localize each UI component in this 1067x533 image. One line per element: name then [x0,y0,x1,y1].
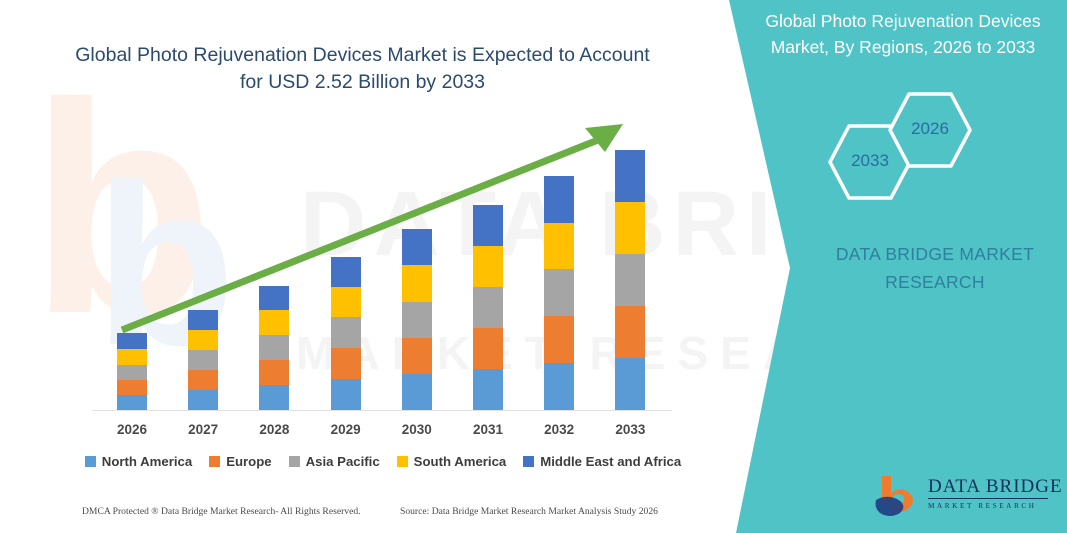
bar-segment[interactable] [473,246,503,287]
bar-segment[interactable] [402,265,432,302]
legend-item[interactable]: North America [85,454,192,469]
panel-title: Global Photo Rejuvenation Devices Market… [748,8,1058,60]
bar-segment[interactable] [402,374,432,410]
bar-segment[interactable] [259,310,289,335]
x-axis-label-2030: 2030 [387,422,447,437]
x-axis-label-2026: 2026 [102,422,162,437]
legend-item[interactable]: South America [397,454,507,469]
bar-segment[interactable] [544,176,574,223]
hexagon-group: 2033 2026 [828,92,978,204]
bar-2032[interactable] [544,176,574,410]
bar-segment[interactable] [402,229,432,265]
bar-segment[interactable] [331,257,361,287]
bar-2031[interactable] [473,205,503,410]
bar-segment[interactable] [259,385,289,410]
x-axis-label-2031: 2031 [458,422,518,437]
x-axis-label-2033: 2033 [600,422,660,437]
legend-label: South America [414,454,507,469]
infographic-root: b b DATA BRIDGE MARKET RESEARCH Global P… [0,0,1067,533]
bar-segment[interactable] [117,365,147,380]
bar-segment[interactable] [615,358,645,410]
bar-segment[interactable] [117,349,147,365]
bar-segment[interactable] [331,317,361,348]
bar-segment[interactable] [117,380,147,395]
bar-segment[interactable] [615,150,645,202]
bar-segment[interactable] [259,286,289,310]
bar-segment[interactable] [402,338,432,374]
copyright-text: DMCA Protected ® Data Bridge Market Rese… [82,506,361,517]
legend-swatch-icon [523,456,534,467]
legend-label: North America [102,454,192,469]
legend-swatch-icon [397,456,408,467]
bar-segment[interactable] [544,316,574,363]
bar-segment[interactable] [473,287,503,328]
bar-segment[interactable] [117,395,147,410]
stacked-bar-chart: 20262027202820292030203120322033 North A… [0,0,710,533]
bar-segment[interactable] [188,310,218,330]
source-text: Source: Data Bridge Market Research Mark… [400,506,658,517]
bar-segment[interactable] [188,350,218,370]
bar-2028[interactable] [259,286,289,410]
legend-item[interactable]: Middle East and Africa [523,454,681,469]
x-axis-label-2032: 2032 [529,422,589,437]
bar-segment[interactable] [544,363,574,410]
x-axis-label-2029: 2029 [316,422,376,437]
bar-segment[interactable] [473,328,503,369]
legend-item[interactable]: Asia Pacific [289,454,380,469]
x-axis-labels: 20262027202820292030203120322033 [92,422,672,444]
logo-mark-icon [872,474,924,518]
bar-segment[interactable] [473,369,503,410]
hexagon-2026-label: 2026 [888,119,972,139]
bar-segment[interactable] [544,223,574,269]
bar-segment[interactable] [544,269,574,316]
legend-swatch-icon [209,456,220,467]
legend-item[interactable]: Europe [209,454,271,469]
bar-2033[interactable] [615,150,645,410]
chart-baseline [92,410,672,411]
bar-segment[interactable] [615,254,645,306]
bar-2027[interactable] [188,310,218,410]
footer-bar: DMCA Protected ® Data Bridge Market Rese… [0,506,710,526]
bar-segment[interactable] [188,390,218,410]
bar-2030[interactable] [402,229,432,410]
legend-swatch-icon [85,456,96,467]
bar-segment[interactable] [188,370,218,390]
legend-label: Asia Pacific [306,454,380,469]
bar-segment[interactable] [331,379,361,410]
bar-segment[interactable] [615,306,645,358]
bar-segment[interactable] [117,333,147,349]
bar-segment[interactable] [402,302,432,338]
bar-segment[interactable] [473,205,503,246]
legend-label: Europe [226,454,271,469]
bar-segment[interactable] [259,335,289,360]
company-logo: DATA BRIDGE MARKET RESEARCH [872,472,1047,520]
bar-segment[interactable] [331,348,361,379]
bar-segment[interactable] [615,202,645,254]
bar-2026[interactable] [117,333,147,410]
legend-label: Middle East and Africa [540,454,681,469]
bar-segment[interactable] [188,330,218,350]
bar-2029[interactable] [331,257,361,410]
logo-main-text: DATA BRIDGE [928,476,1048,499]
logo-sub-text: MARKET RESEARCH [928,500,1048,512]
x-axis-label-2027: 2027 [173,422,233,437]
x-axis-label-2028: 2028 [244,422,304,437]
chart-legend: North AmericaEuropeAsia PacificSouth Ame… [92,454,674,469]
bar-segment[interactable] [331,287,361,317]
logo-text: DATA BRIDGE MARKET RESEARCH [928,476,1048,512]
legend-swatch-icon [289,456,300,467]
hexagon-2026: 2026 [888,92,972,168]
panel-brand-text: DATA BRIDGE MARKET RESEARCH [800,240,1067,296]
bar-segment[interactable] [259,360,289,385]
